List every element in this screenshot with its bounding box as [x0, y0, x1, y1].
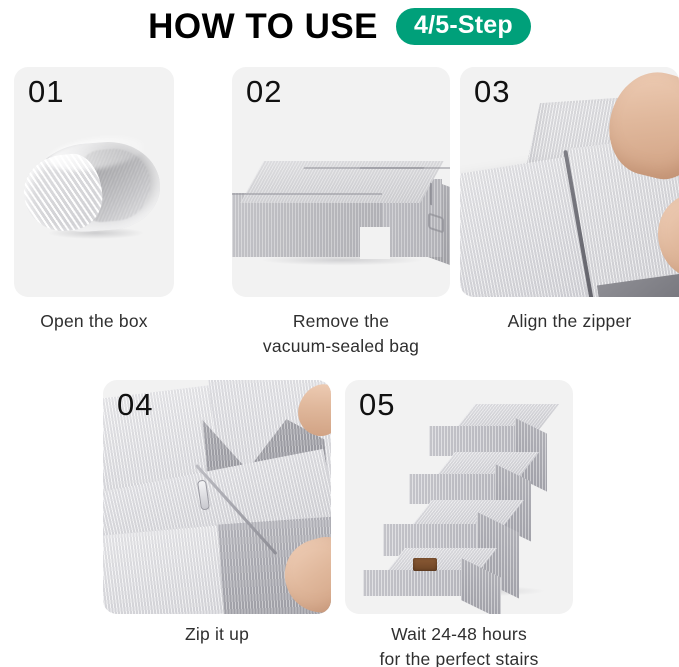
- step-number-04: 04: [117, 388, 153, 422]
- caption-line-2: for the perfect stairs: [345, 647, 573, 667]
- step-card-02: 02: [232, 67, 450, 297]
- step-caption-01: Open the box: [14, 309, 174, 334]
- block-fold-seam-2: [360, 167, 450, 169]
- caption-line-1: Open the box: [14, 309, 174, 334]
- step-number-02: 02: [246, 75, 282, 109]
- step-caption-03: Align the zipper: [460, 309, 679, 334]
- page-title: HOW TO USE: [148, 9, 378, 44]
- step-card-05: 05: [345, 380, 573, 614]
- step-card-03: 03: [460, 67, 679, 297]
- step-caption-05: Wait 24-48 hours for the perfect stairs: [345, 622, 573, 667]
- stair-riser-1: [363, 570, 463, 596]
- block-zipper: [430, 183, 432, 206]
- step-number-03: 03: [474, 75, 510, 109]
- caption-line-1: Wait 24-48 hours: [345, 622, 573, 647]
- step-caption-02: Remove the vacuum-sealed bag: [232, 309, 450, 360]
- pet-stairs-illustration: [367, 402, 567, 602]
- caption-line-2: vacuum-sealed bag: [232, 334, 450, 359]
- caption-line-1: Zip it up: [103, 622, 331, 647]
- step-count-badge: 4/5-Step: [396, 8, 531, 45]
- caption-line-1: Align the zipper: [460, 309, 679, 334]
- caption-line-1: Remove the: [232, 309, 450, 334]
- step-caption-04: Zip it up: [103, 622, 331, 647]
- block-notch-cutout: [360, 227, 390, 259]
- step-card-01: 01: [14, 67, 174, 297]
- header: HOW TO USE 4/5-Step: [0, 0, 679, 52]
- folded-foam-illustration: [232, 87, 450, 277]
- step-number-05: 05: [359, 388, 395, 422]
- brand-leather-tag: [413, 558, 437, 571]
- vacuum-bag-illustration: [18, 129, 170, 249]
- step-card-04: 04: [103, 380, 331, 614]
- step-number-01: 01: [28, 75, 64, 109]
- how-to-use-infographic: HOW TO USE 4/5-Step 01 Open the box 02: [0, 0, 679, 667]
- block-edge-seam: [232, 193, 382, 195]
